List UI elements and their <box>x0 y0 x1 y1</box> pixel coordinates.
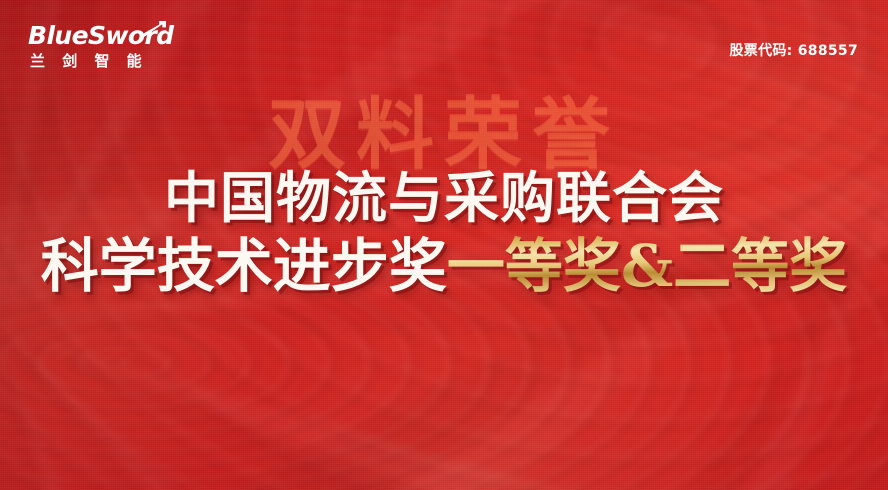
headline-line-1: 中国物流与采购联合会 <box>0 168 888 227</box>
honor-banner: 双料荣誉 BlueSword 兰 剑 智 能 股票代码: 688557 中国物流… <box>0 0 888 490</box>
headline-line-2: 科学技术进步奖一等奖&二等奖 <box>0 235 888 298</box>
company-logo[interactable]: BlueSword 兰 剑 智 能 <box>28 23 178 79</box>
watermark-text: 双料荣誉 <box>0 96 888 174</box>
headline-award-grades: 一等奖&二等奖 <box>447 232 847 300</box>
headline-block: 中国物流与采购联合会 科学技术进步奖一等奖&二等奖 <box>0 168 888 298</box>
headline-award-name: 科学技术进步奖 <box>41 232 447 300</box>
flag-swoosh-icon <box>141 20 167 42</box>
stock-code-label: 股票代码: 688557 <box>729 40 858 60</box>
logo-chinese-name: 兰 剑 智 能 <box>30 54 148 69</box>
